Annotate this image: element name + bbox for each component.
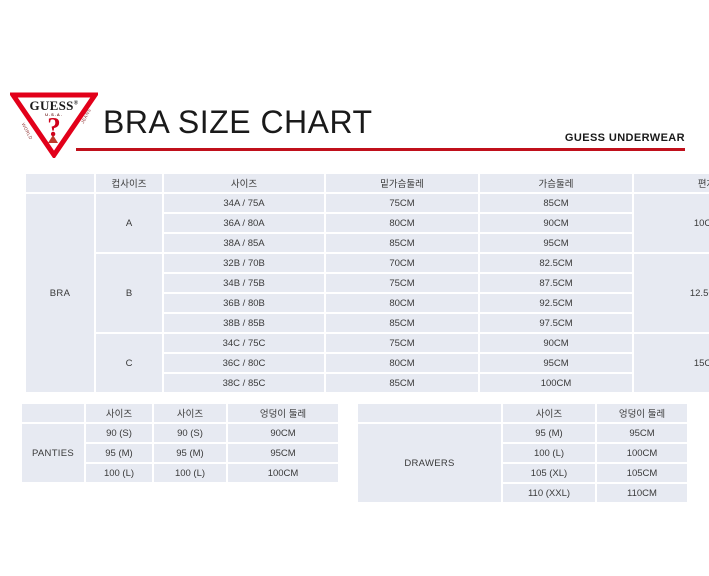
- bra-corner-cell: [26, 174, 94, 192]
- size2-cell: 95 (M): [154, 444, 226, 462]
- size-cell: 36C / 80C: [164, 354, 324, 372]
- bra-size-table: 컵사이즈 사이즈 밑가슴둘레 가슴둘레 편차 BRA A 34A / 75A 7…: [24, 172, 709, 394]
- hip-cell: 110CM: [597, 484, 687, 502]
- size2-cell: 100 (L): [154, 464, 226, 482]
- size2-cell: 90 (S): [154, 424, 226, 442]
- deviation-cell-c: 15CM: [634, 334, 709, 392]
- header-divider: [76, 148, 685, 151]
- column-header-hip: 엉덩이 둘레: [597, 404, 687, 422]
- hip-cell: 100CM: [597, 444, 687, 462]
- table-row: B 32B / 70B 70CM 82.5CM 12.5CM: [26, 254, 709, 272]
- size-cell: 105 (XL): [503, 464, 595, 482]
- cup-cell-a: A: [96, 194, 162, 252]
- size-cell: 38B / 85B: [164, 314, 324, 332]
- size1-cell: 90 (S): [86, 424, 152, 442]
- underbust-cell: 75CM: [326, 274, 478, 292]
- bust-cell: 85CM: [480, 194, 632, 212]
- page-header: GUESS® U.S.A. WORLD JEANS ? BRA SIZE CHA…: [0, 0, 709, 160]
- column-header-size-1: 사이즈: [86, 404, 152, 422]
- bust-cell: 92.5CM: [480, 294, 632, 312]
- underbust-cell: 85CM: [326, 234, 478, 252]
- table-row: C 34C / 75C 75CM 90CM 15CM: [26, 334, 709, 352]
- bust-cell: 95CM: [480, 354, 632, 372]
- size-cell: 38C / 85C: [164, 374, 324, 392]
- bust-cell: 95CM: [480, 234, 632, 252]
- size-cell: 34A / 75A: [164, 194, 324, 212]
- column-header-size: 사이즈: [164, 174, 324, 192]
- size-cell: 36A / 80A: [164, 214, 324, 232]
- column-header-deviation: 편차: [634, 174, 709, 192]
- column-header-size-2: 사이즈: [154, 404, 226, 422]
- bra-table-body: BRA A 34A / 75A 75CM 85CM 10CM 36A / 80A…: [26, 194, 709, 392]
- size-cell: 110 (XXL): [503, 484, 595, 502]
- column-header-size: 사이즈: [503, 404, 595, 422]
- deviation-cell-a: 10CM: [634, 194, 709, 252]
- size-cell: 32B / 70B: [164, 254, 324, 272]
- underbust-cell: 70CM: [326, 254, 478, 272]
- category-cell-bra: BRA: [26, 194, 94, 392]
- table-row: DRAWERS 95 (M) 95CM: [358, 424, 687, 442]
- hip-cell: 90CM: [228, 424, 338, 442]
- underbust-cell: 80CM: [326, 354, 478, 372]
- bust-cell: 90CM: [480, 214, 632, 232]
- underbust-cell: 80CM: [326, 294, 478, 312]
- category-cell-panties: PANTIES: [22, 424, 84, 482]
- logo-triangle-accent-icon: [48, 135, 58, 143]
- page-title: BRA SIZE CHART: [103, 104, 373, 141]
- bust-cell: 100CM: [480, 374, 632, 392]
- table-row: PANTIES 90 (S) 90 (S) 90CM: [22, 424, 338, 442]
- column-header-underbust: 밑가슴둘레: [326, 174, 478, 192]
- table-header-row: 컵사이즈 사이즈 밑가슴둘레 가슴둘레 편차: [26, 174, 709, 192]
- underbust-cell: 85CM: [326, 374, 478, 392]
- drawers-table-body: DRAWERS 95 (M) 95CM 100 (L) 100CM 105 (X…: [358, 424, 687, 502]
- bust-cell: 87.5CM: [480, 274, 632, 292]
- table-header-row: 사이즈 사이즈 엉덩이 둘레: [22, 404, 338, 422]
- bust-cell: 82.5CM: [480, 254, 632, 272]
- cup-cell-c: C: [96, 334, 162, 392]
- size-cell: 100 (L): [503, 444, 595, 462]
- column-header-hip: 엉덩이 둘레: [228, 404, 338, 422]
- bust-cell: 97.5CM: [480, 314, 632, 332]
- table-header-row: 사이즈 엉덩이 둘레: [358, 404, 687, 422]
- column-header-cup-size: 컵사이즈: [96, 174, 162, 192]
- category-cell-drawers: DRAWERS: [358, 424, 501, 502]
- underbust-cell: 75CM: [326, 334, 478, 352]
- size-cell: 38A / 85A: [164, 234, 324, 252]
- underbust-cell: 80CM: [326, 214, 478, 232]
- size-cell: 95 (M): [503, 424, 595, 442]
- size1-cell: 100 (L): [86, 464, 152, 482]
- panties-corner-cell: [22, 404, 84, 422]
- drawers-corner-cell: [358, 404, 501, 422]
- brand-label: GUESS UNDERWEAR: [565, 132, 685, 144]
- hip-cell: 95CM: [228, 444, 338, 462]
- size-cell: 34B / 75B: [164, 274, 324, 292]
- panties-size-table: 사이즈 사이즈 엉덩이 둘레 PANTIES 90 (S) 90 (S) 90C…: [20, 402, 340, 484]
- underbust-cell: 85CM: [326, 314, 478, 332]
- underbust-cell: 75CM: [326, 194, 478, 212]
- deviation-cell-b: 12.5CM: [634, 254, 709, 332]
- logo-registered-mark: ®: [74, 101, 79, 107]
- size-cell: 36B / 80B: [164, 294, 324, 312]
- hip-cell: 105CM: [597, 464, 687, 482]
- column-header-bust: 가슴둘레: [480, 174, 632, 192]
- hip-cell: 100CM: [228, 464, 338, 482]
- table-row: BRA A 34A / 75A 75CM 85CM 10CM: [26, 194, 709, 212]
- panties-table-body: PANTIES 90 (S) 90 (S) 90CM 95 (M) 95 (M)…: [22, 424, 338, 482]
- size-cell: 34C / 75C: [164, 334, 324, 352]
- hip-cell: 95CM: [597, 424, 687, 442]
- drawers-size-table: 사이즈 엉덩이 둘레 DRAWERS 95 (M) 95CM 100 (L) 1…: [356, 402, 689, 504]
- bust-cell: 90CM: [480, 334, 632, 352]
- size1-cell: 95 (M): [86, 444, 152, 462]
- cup-cell-b: B: [96, 254, 162, 332]
